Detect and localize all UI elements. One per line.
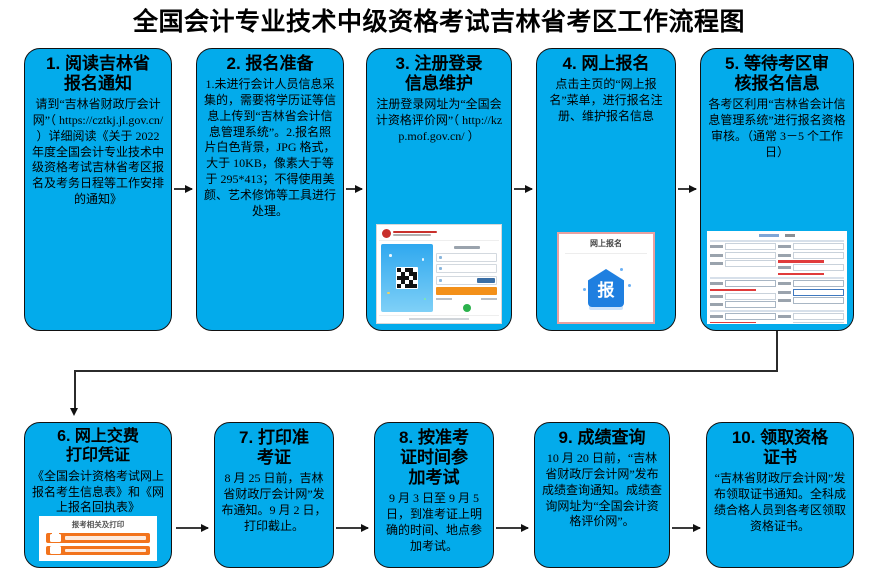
form-input[interactable] (793, 322, 845, 325)
flow-node-2-body: 1.未进行会计人员信息采集的，需要将学历证等信息上传到“吉林省会计信息管理系统”… (203, 77, 337, 219)
flowchart-canvas: 1. 阅读吉林省 报名通知 请到“吉林省财政厅会计网”（ https://czt… (0, 38, 878, 578)
flow-node-9-body: 10 月 20 日前，“吉林省财政厅会计网”发布成绩查询通知。成绩查询网址为“全… (541, 451, 663, 530)
qr-code-icon (396, 267, 418, 289)
flow-node-8-title: 8. 按准考 证时间参 加考试 (381, 428, 487, 488)
site-header (379, 227, 499, 241)
form-input[interactable] (793, 243, 845, 250)
online-registration-card[interactable]: 网上报名 报 (557, 232, 655, 324)
print-info-sheet-button[interactable] (46, 533, 150, 542)
national-emblem-icon (382, 229, 391, 238)
login-body (379, 241, 499, 315)
login-form-title (454, 246, 480, 249)
form-input-focused[interactable] (793, 289, 845, 296)
flow-node-1-title: 1. 阅读吉林省 报名通知 (31, 54, 165, 94)
card-label: 网上报名 (590, 238, 622, 249)
form-section-header (710, 310, 844, 312)
validation-message (710, 289, 756, 292)
flow-node-8-body: 9 月 3 日至 9 月 5 日，到准考证上明确的时间、地点参加考试。 (381, 491, 487, 554)
flow-node-10-title: 10. 领取资格 证书 (713, 428, 847, 468)
form-section-header (710, 240, 844, 242)
arrow-8-to-9 (496, 527, 528, 529)
wrap-5-to-6-vertical-left (74, 370, 76, 410)
form-select[interactable] (725, 280, 777, 287)
wrap-5-to-6-horizontal (74, 370, 778, 372)
captcha-field[interactable] (436, 276, 497, 285)
print-receipt-button[interactable] (46, 546, 150, 555)
flow-node-2-title: 2. 报名准备 (203, 54, 337, 74)
arrow-3-to-4 (514, 188, 532, 190)
arrow-9-to-10 (672, 527, 700, 529)
flow-node-9[interactable]: 9. 成绩查询 10 月 20 日前，“吉林省财政厅会计网”发布成绩查询通知。成… (534, 422, 670, 568)
flow-node-4[interactable]: 4. 网上报名 点击主页的“网上报名”菜单，进行报名注册、维护报名信息 网上报名… (536, 48, 676, 331)
print-panel-title: 报考相关及打印 (72, 519, 125, 530)
username-field[interactable] (436, 253, 497, 262)
arrow-2-to-3 (346, 188, 362, 190)
form-section-3 (710, 313, 844, 324)
form-input[interactable] (793, 252, 845, 259)
arrow-4-to-5 (678, 188, 696, 190)
flow-node-10[interactable]: 10. 领取资格 证书 “吉林省财政厅会计网”发布领取证书通知。全科成绩合格人员… (706, 422, 854, 568)
login-links[interactable] (436, 298, 497, 301)
form-select[interactable] (793, 280, 845, 287)
form-select[interactable] (725, 313, 777, 320)
form-input[interactable] (725, 293, 777, 300)
validation-message (778, 273, 824, 276)
flow-node-5[interactable]: 5. 等待考区审 核报名信息 各考区利用“吉林省会计信息管理系统”进行报名资格审… (700, 48, 854, 331)
form-input[interactable] (793, 264, 845, 271)
login-form (436, 244, 497, 312)
flow-node-9-title: 9. 成绩查询 (541, 428, 663, 448)
form-tabs[interactable] (710, 234, 844, 238)
flow-node-4-title: 4. 网上报名 (543, 54, 669, 74)
form-section-header (710, 277, 844, 279)
form-select[interactable] (725, 301, 777, 308)
form-input[interactable] (725, 243, 777, 250)
form-input[interactable] (725, 260, 777, 267)
wrap-5-to-6-arrowhead (70, 408, 78, 416)
arrow-1-to-2 (174, 188, 192, 190)
flow-node-7-title: 7. 打印准 考证 (221, 428, 327, 468)
flow-node-8[interactable]: 8. 按准考 证时间参 加考试 9 月 3 日至 9 月 5 日，到准考证上明确… (374, 422, 494, 568)
form-input[interactable] (725, 252, 777, 259)
printer-icon (50, 534, 61, 542)
form-input[interactable] (793, 313, 845, 320)
registration-house-icon: 报 (588, 269, 624, 307)
button-label (65, 549, 146, 553)
card-icon-area: 报 (559, 254, 653, 322)
captcha-image (477, 278, 495, 283)
flow-node-3[interactable]: 3. 注册登录 信息维护 注册登录网址为“全国会计资格评价网”（ http://… (366, 48, 512, 331)
login-page-screenshot (376, 224, 502, 324)
button-label (65, 536, 146, 540)
registration-form-screenshot (707, 231, 847, 324)
qr-login-panel[interactable] (381, 244, 433, 312)
arrow-6-to-7 (176, 527, 208, 529)
flow-node-6-title: 6. 网上交费 打印凭证 (31, 428, 165, 466)
flow-node-1-body: 请到“吉林省财政厅会计网”（ https://cztkj.jl.gov.cn/ … (31, 97, 165, 208)
site-footer (379, 315, 499, 321)
arrow-7-to-8 (336, 527, 368, 529)
flow-node-7-body: 8 月 25 日前，吉林省财政厅会计网”发布通知。9 月 2 日，打印截止。 (221, 471, 327, 534)
flow-node-5-body: 各考区利用“吉林省会计信息管理系统”进行报名资格审核。（通常 3－5 个工作日） (707, 97, 847, 160)
printer-icon (50, 546, 61, 554)
validation-message (710, 322, 756, 325)
flow-node-7[interactable]: 7. 打印准 考证 8 月 25 日前，吉林省财政厅会计网”发布通知。9 月 2… (214, 422, 334, 568)
login-submit-button[interactable] (436, 287, 497, 295)
validation-message (778, 260, 824, 263)
flow-node-6[interactable]: 6. 网上交费 打印凭证 《全国会计资格考试网上报名考生信息表》和《网上报名回执… (24, 422, 172, 568)
form-section-1 (710, 243, 844, 275)
site-header-text (393, 231, 437, 236)
flow-node-1[interactable]: 1. 阅读吉林省 报名通知 请到“吉林省财政厅会计网”（ https://czt… (24, 48, 172, 331)
wechat-login-icon[interactable] (463, 304, 471, 312)
flow-node-3-body: 注册登录网址为“全国会计资格评价网”（ http://kzp.mof.gov.c… (373, 97, 505, 144)
flow-node-2[interactable]: 2. 报名准备 1.未进行会计人员信息采集的，需要将学历证等信息上传到“吉林省会… (196, 48, 344, 331)
flow-node-10-body: “吉林省财政厅会计网”发布领取证书通知。全科成绩合格人员到各考区领取资格证书。 (713, 471, 847, 534)
flow-node-6-body: 《全国会计资格考试网上报名考生信息表》和《网上报名回执表》 (31, 469, 165, 516)
print-panel-screenshot: 报考相关及打印 (39, 516, 157, 561)
form-select[interactable] (793, 297, 845, 304)
wrap-5-to-6-vertical-right (776, 331, 778, 372)
flow-node-4-body: 点击主页的“网上报名”菜单，进行报名注册、维护报名信息 (543, 77, 669, 124)
flow-node-5-title: 5. 等待考区审 核报名信息 (707, 54, 847, 94)
flow-node-3-title: 3. 注册登录 信息维护 (373, 54, 505, 94)
form-section-2 (710, 280, 844, 308)
password-field[interactable] (436, 264, 497, 273)
page-title: 全国会计专业技术中级资格考试吉林省考区工作流程图 (0, 0, 878, 38)
